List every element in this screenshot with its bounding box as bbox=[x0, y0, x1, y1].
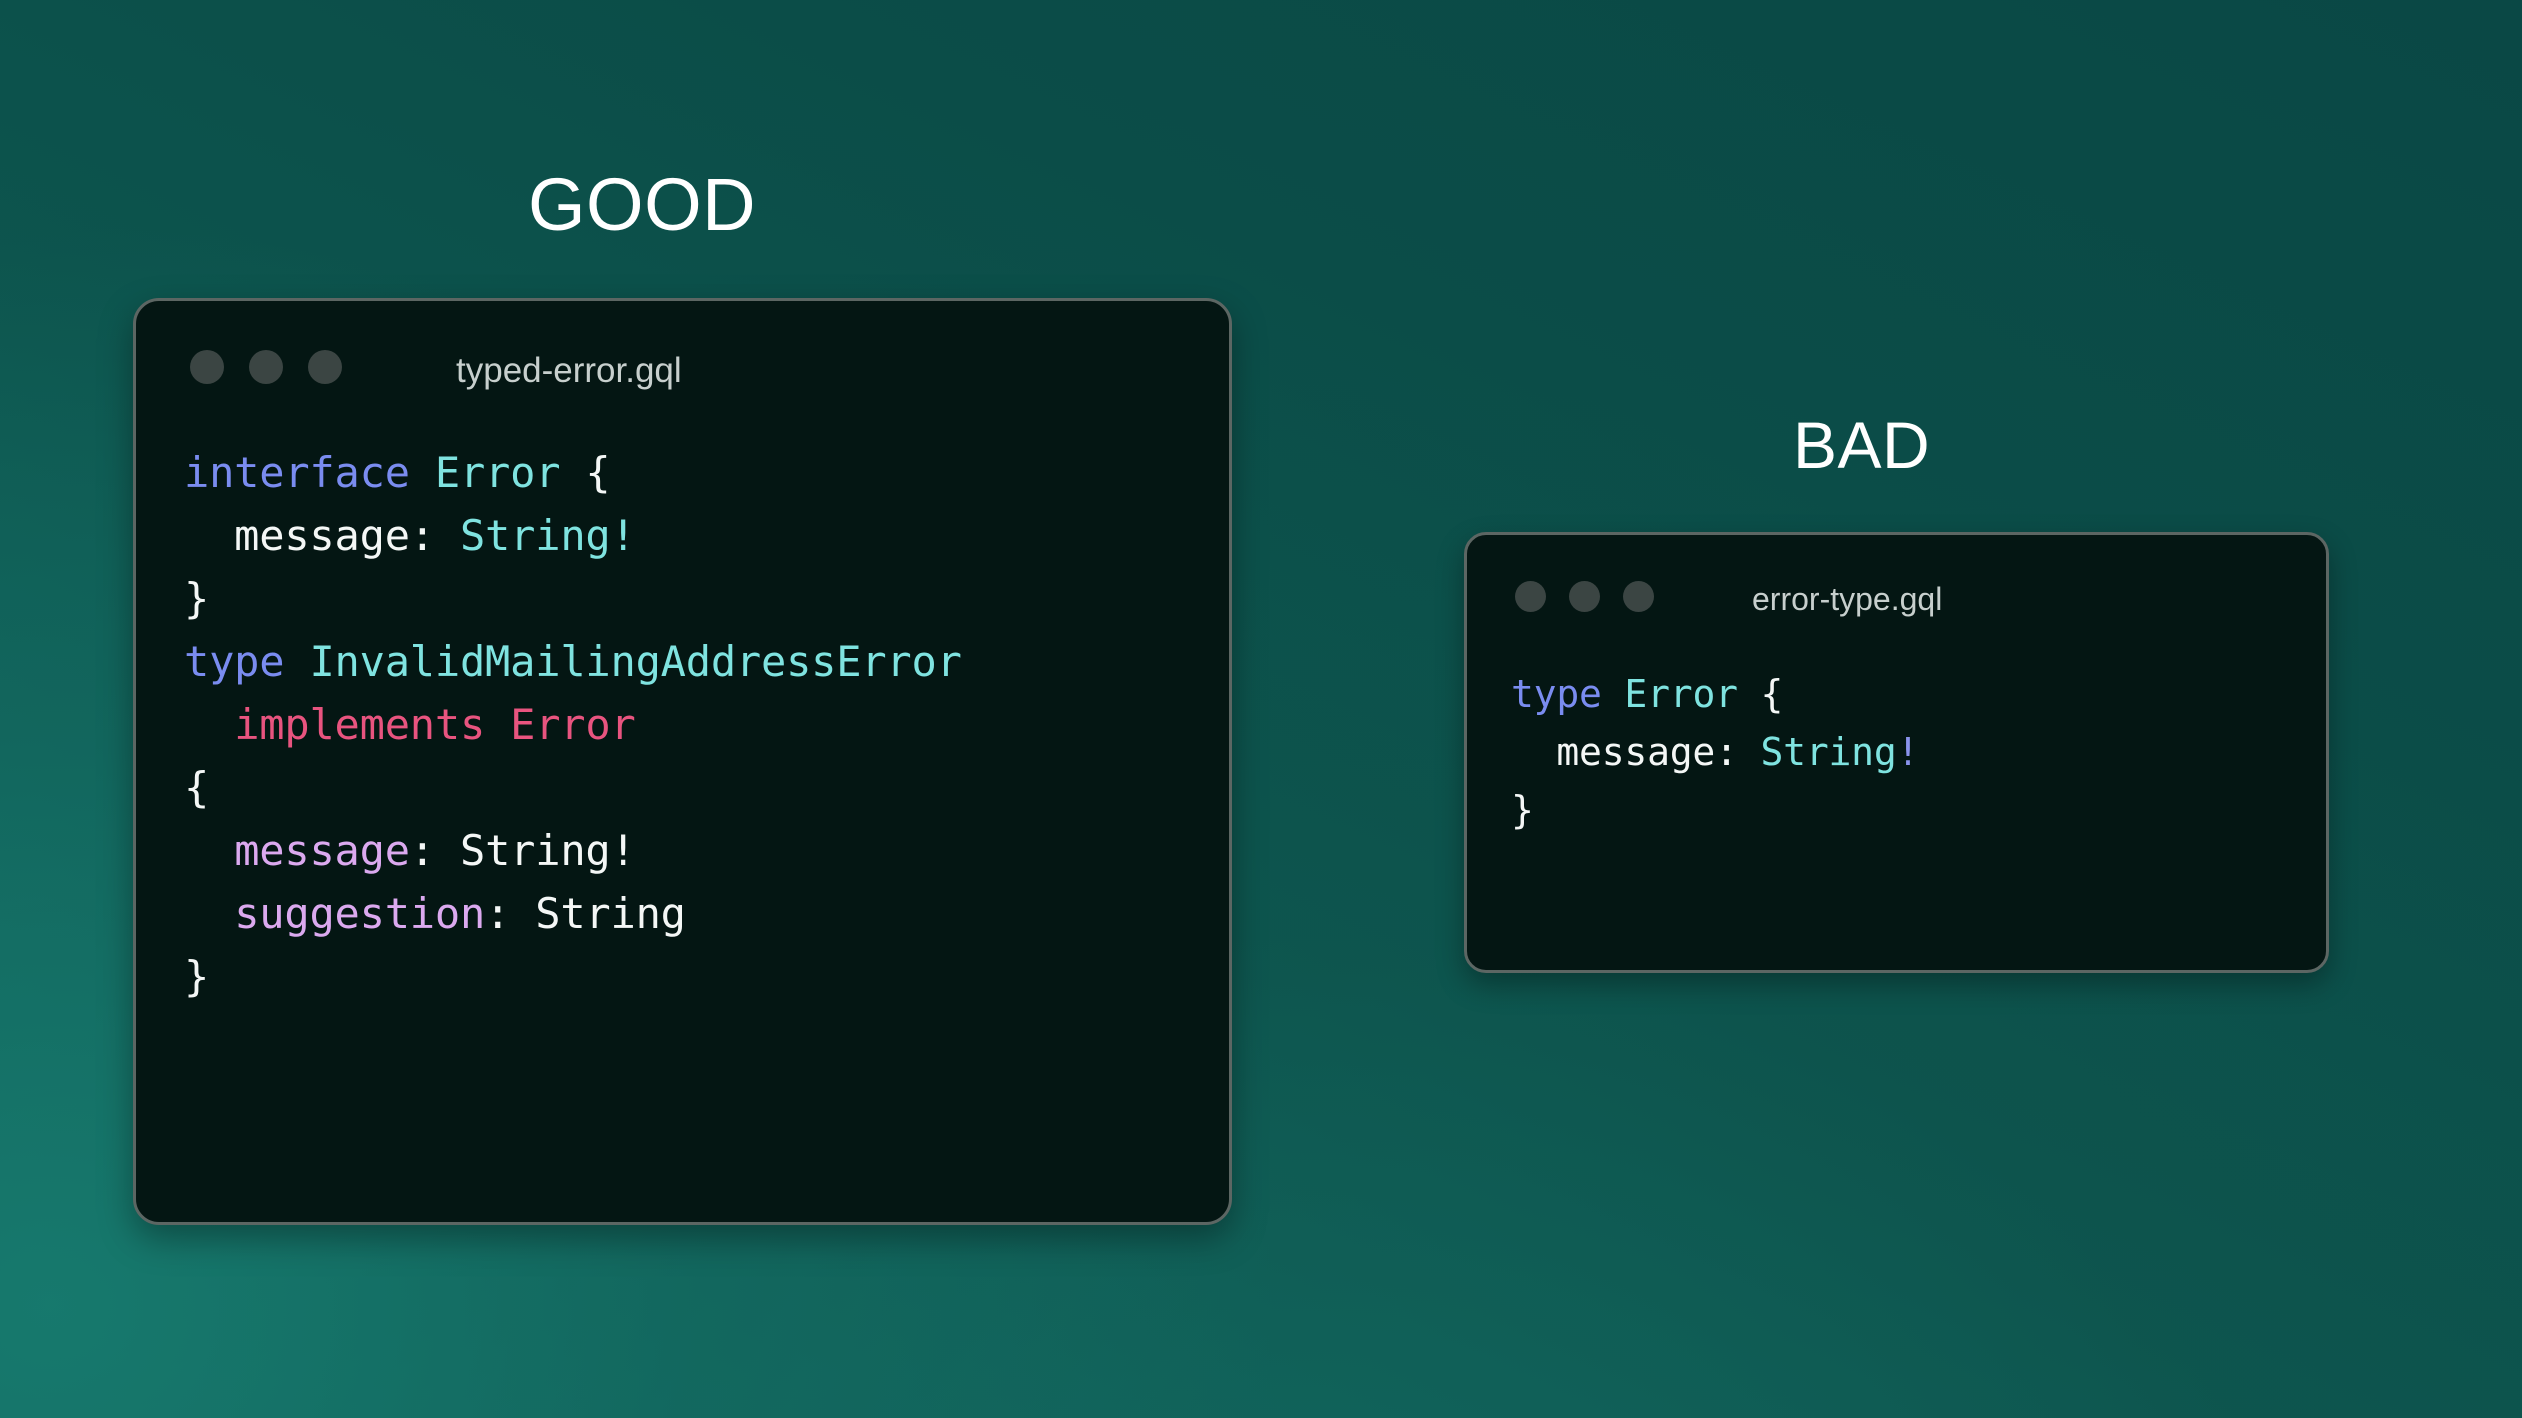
code-card-bad: error-type.gql type Error { message: Str… bbox=[1464, 532, 2329, 973]
code-token-field: message bbox=[234, 826, 410, 875]
code-token-punct: { bbox=[585, 448, 610, 497]
code-card-good: typed-error.gql interface Error { messag… bbox=[133, 298, 1232, 1225]
slide-canvas: GOOD typed-error.gql interface Error { m… bbox=[0, 0, 2522, 1418]
code-token-type: Error bbox=[435, 448, 560, 497]
code-token-punct: : bbox=[1715, 730, 1760, 774]
code-token-type: String bbox=[1760, 730, 1896, 774]
code-line: type InvalidMailingAddressError bbox=[184, 630, 1229, 693]
code-line: message: String! bbox=[184, 504, 1229, 567]
traffic-lights-bad bbox=[1515, 581, 1677, 612]
filename-label-bad: error-type.gql bbox=[1752, 581, 1942, 618]
code-line: interface Error { bbox=[184, 441, 1229, 504]
code-token-keyword: type bbox=[184, 637, 284, 686]
code-block-bad: type Error { message: String! } bbox=[1467, 657, 2326, 839]
code-token-punct: : bbox=[410, 826, 460, 875]
code-token-plain bbox=[284, 637, 309, 686]
code-token-plain bbox=[1738, 672, 1761, 716]
code-token-punct: : bbox=[410, 511, 460, 560]
minimize-dot-icon[interactable] bbox=[1569, 581, 1600, 612]
code-token-plain: message bbox=[184, 511, 410, 560]
code-token-punct: } bbox=[1511, 788, 1534, 832]
code-token-type: Error bbox=[1624, 672, 1737, 716]
code-token-plain bbox=[184, 826, 234, 875]
code-token-impl: implements Error bbox=[234, 700, 635, 749]
bad-section-heading: BAD bbox=[1793, 412, 1930, 478]
code-line: type Error { bbox=[1511, 665, 2326, 723]
code-token-plain: String bbox=[535, 889, 686, 938]
code-line: message: String! bbox=[1511, 723, 2326, 781]
code-line: suggestion: String bbox=[184, 882, 1229, 945]
code-token-punct: { bbox=[1760, 672, 1783, 716]
code-line: } bbox=[1511, 781, 2326, 839]
code-line: implements Error bbox=[184, 693, 1229, 756]
code-line: } bbox=[184, 567, 1229, 630]
code-token-bang: ! bbox=[1897, 730, 1920, 774]
code-token-type: String! bbox=[460, 511, 636, 560]
code-token-plain: message bbox=[1511, 730, 1715, 774]
code-line: } bbox=[184, 945, 1229, 1008]
code-token-plain bbox=[184, 700, 234, 749]
maximize-dot-icon[interactable] bbox=[1623, 581, 1654, 612]
code-token-plain bbox=[410, 448, 435, 497]
card-titlebar-good: typed-error.gql bbox=[136, 301, 1229, 433]
code-block-good: interface Error { message: String! } typ… bbox=[136, 433, 1229, 1008]
code-token-punct: } bbox=[184, 574, 209, 623]
code-token-punct: { bbox=[184, 763, 209, 812]
code-token-keyword: type bbox=[1511, 672, 1602, 716]
code-token-plain bbox=[560, 448, 585, 497]
code-token-field: suggestion bbox=[234, 889, 485, 938]
filename-label-good: typed-error.gql bbox=[456, 351, 682, 391]
code-token-type: InvalidMailingAddressError bbox=[309, 637, 961, 686]
code-token-punct: } bbox=[184, 952, 209, 1001]
code-token-plain bbox=[184, 889, 234, 938]
code-token-keyword: interface bbox=[184, 448, 410, 497]
code-token-plain bbox=[1602, 672, 1625, 716]
code-line: { bbox=[184, 756, 1229, 819]
traffic-lights-good bbox=[190, 350, 367, 384]
code-token-punct: : bbox=[485, 889, 535, 938]
minimize-dot-icon[interactable] bbox=[249, 350, 283, 384]
code-line: message: String! bbox=[184, 819, 1229, 882]
close-dot-icon[interactable] bbox=[190, 350, 224, 384]
good-section-heading: GOOD bbox=[528, 168, 756, 242]
code-token-plain: String! bbox=[460, 826, 636, 875]
card-titlebar-bad: error-type.gql bbox=[1467, 535, 2326, 657]
close-dot-icon[interactable] bbox=[1515, 581, 1546, 612]
maximize-dot-icon[interactable] bbox=[308, 350, 342, 384]
